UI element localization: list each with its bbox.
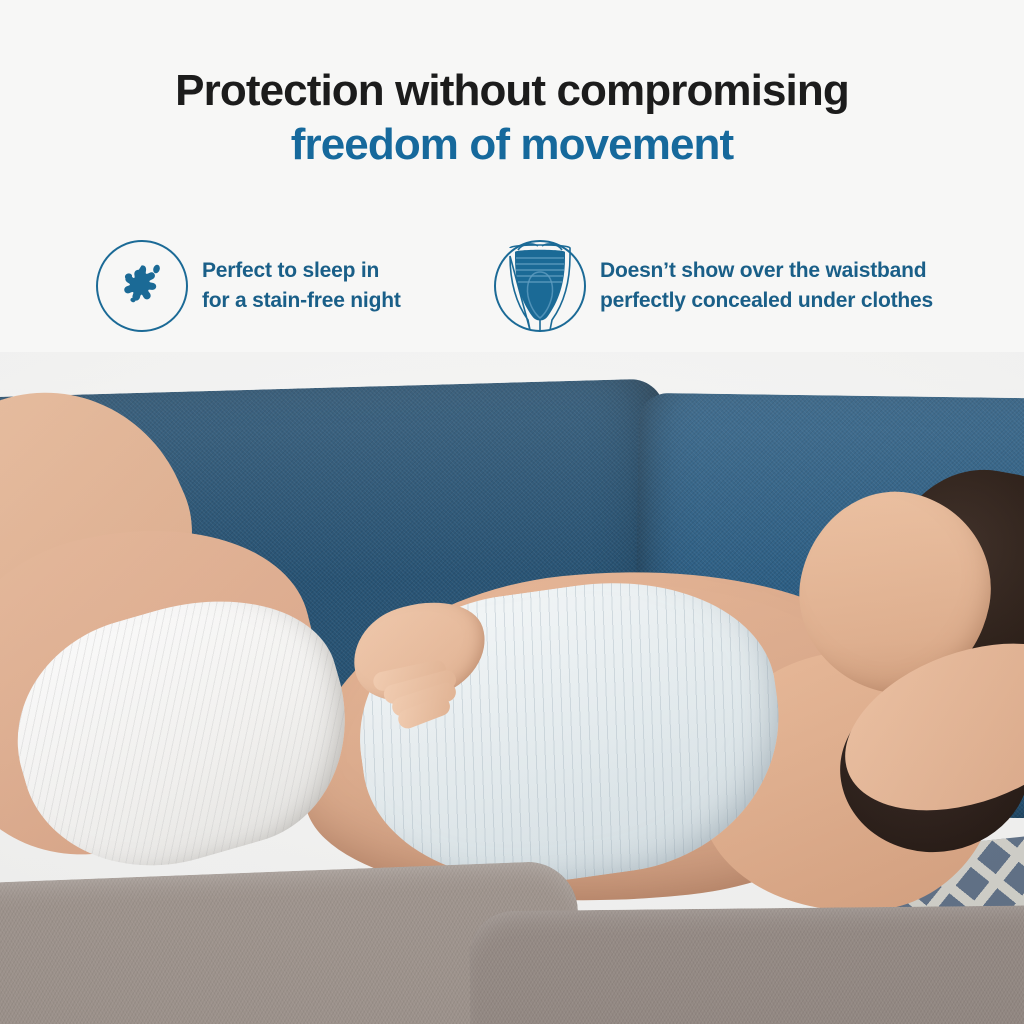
- feature-2-line-2: perfectly concealed under clothes: [600, 286, 933, 316]
- feature-item-concealed: Doesn’t show over the waistband perfectl…: [494, 240, 933, 332]
- promo-page: Protection without compromising freedom …: [0, 0, 1024, 1024]
- feature-item-stain-free: Perfect to sleep in for a stain-free nig…: [96, 240, 401, 332]
- page-title: Protection without compromising freedom …: [0, 64, 1024, 172]
- lifestyle-photo: [0, 352, 1024, 1024]
- taupe-seat-cushion-right: [469, 905, 1024, 1024]
- feature-text-stain-free: Perfect to sleep in for a stain-free nig…: [202, 256, 401, 316]
- headline-line-1: Protection without compromising: [0, 64, 1024, 118]
- feature-2-line-1: Doesn’t show over the waistband: [600, 256, 933, 286]
- splash-icon: [96, 240, 188, 332]
- headline-line-2: freedom of movement: [0, 118, 1024, 172]
- feature-1-line-1: Perfect to sleep in: [202, 256, 401, 286]
- feature-text-concealed: Doesn’t show over the waistband perfectl…: [600, 256, 933, 316]
- feature-list: Perfect to sleep in for a stain-free nig…: [0, 240, 1024, 350]
- brief-underwear-icon: [494, 240, 586, 332]
- feature-1-line-2: for a stain-free night: [202, 286, 401, 316]
